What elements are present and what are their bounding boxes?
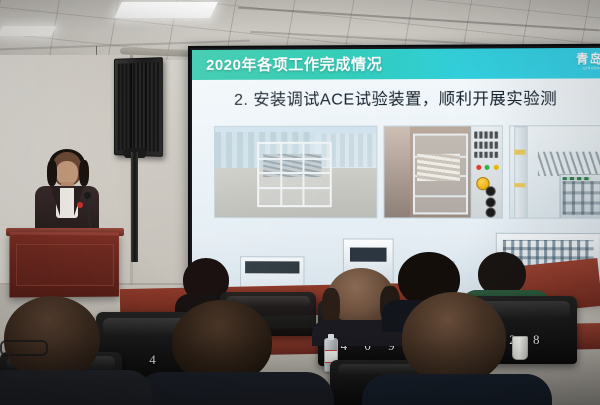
photo-column-band	[514, 183, 526, 188]
logo-sub-text: QINGDAO	[576, 67, 600, 71]
speaker-divider	[145, 63, 147, 152]
console-button-grid	[563, 181, 600, 214]
logo-main-text: 青岛	[576, 53, 600, 65]
console-indicator-strip	[563, 177, 590, 181]
podium-front-panel	[16, 244, 114, 286]
photo-column-band	[514, 150, 526, 155]
attendee-foreground-center-right	[386, 292, 522, 405]
photo-control-panel	[470, 126, 502, 217]
speaker-stand-pole	[131, 152, 138, 262]
photo-room-left	[384, 127, 410, 218]
presenter-lapel-left	[50, 186, 60, 216]
eyeglasses	[0, 340, 48, 356]
photo-tube-bundle	[537, 152, 600, 176]
screenshot-root: 2020年各项工作完成情况 青岛 QINGDAO 2. 安装调试ACE试验装置，…	[0, 0, 600, 405]
microphone-head	[84, 192, 91, 199]
organization-logo: 青岛 QINGDAO	[576, 53, 600, 71]
speaker-grille	[118, 62, 159, 151]
slide-photo-instrument-console	[509, 125, 600, 219]
slide-title: 2020年各项工作完成情况	[206, 53, 382, 75]
attendee-foreground-center-left	[150, 300, 300, 405]
slide-title-bar: 2020年各项工作完成情况 青岛 QINGDAO	[192, 48, 600, 80]
photo-console	[559, 174, 600, 219]
slide-photo-outdoor-skid	[214, 126, 377, 219]
pa-speaker	[114, 57, 163, 157]
presenter-hair-left	[47, 160, 57, 186]
slide-heading: 2. 安装调试ACE试验装置，顺利开展实验测	[234, 85, 557, 110]
attendee-foreground-left-glasses	[0, 296, 128, 405]
slide-photo-indoor-equipment	[383, 125, 502, 218]
ceiling-led-panel-light-secondary	[0, 26, 57, 36]
ceiling-led-panel-light	[114, 2, 218, 18]
presenter-lapel-badge	[77, 202, 83, 208]
presenter-hair-right	[79, 160, 89, 186]
presenter-lapel-right	[74, 186, 84, 216]
photo-coil-assembly	[417, 154, 459, 181]
speaker-divider	[130, 63, 132, 151]
photo-column	[514, 126, 528, 218]
photo-equipment-rack	[257, 142, 332, 208]
